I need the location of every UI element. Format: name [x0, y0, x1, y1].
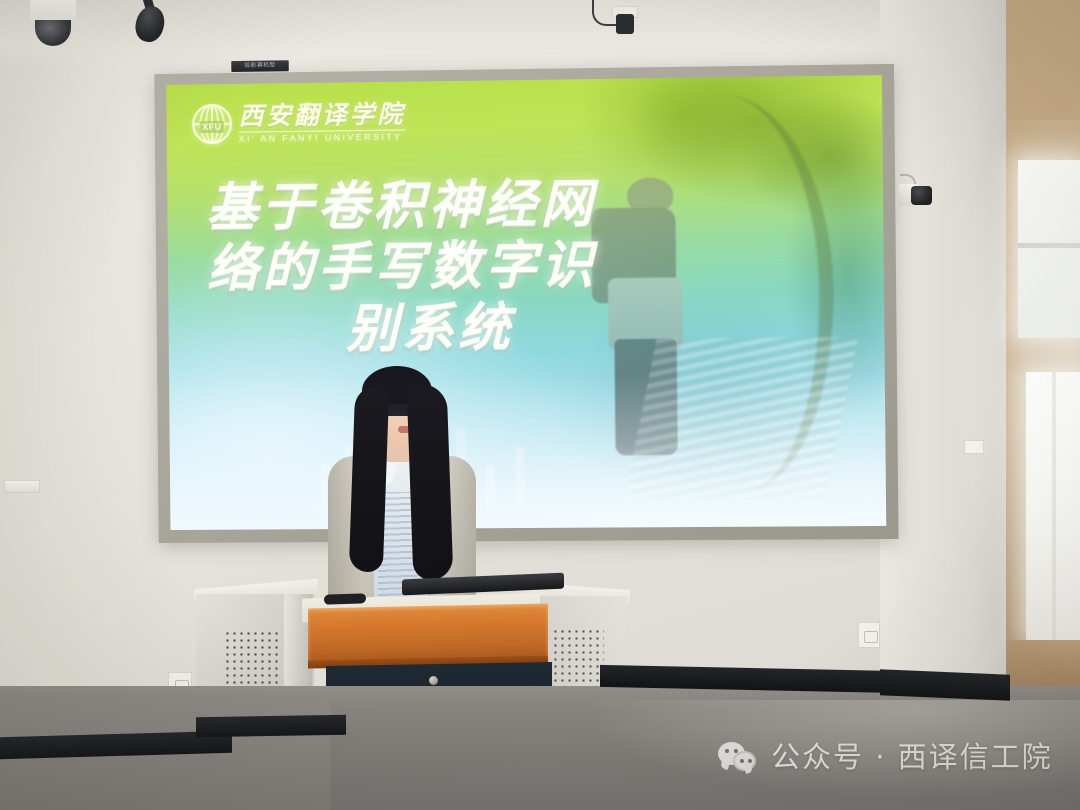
logo-text-block: 西安翻译学院 XI' AN FANYI UNIVERSITY: [238, 101, 405, 143]
skirting-board-corner: [880, 669, 1010, 700]
microphone[interactable]: [324, 593, 366, 604]
window-lower-bar: [1052, 372, 1056, 640]
ceiling-device-body: [616, 14, 634, 34]
logo-english-name: XI' AN FANYI UNIVERSITY: [239, 133, 406, 143]
speaker-head: [132, 3, 168, 45]
slide-surface: XFU 西安翻译学院 XI' AN FANYI UNIVERSITY 基于卷积神…: [166, 75, 886, 530]
right-wall-column: [880, 0, 1010, 700]
wall-camera-lens: [911, 186, 932, 205]
wechat-watermark: 公众号 · 西译信工院: [718, 742, 1053, 772]
window-mullion: [1018, 243, 1080, 248]
wall-plate-right: [964, 440, 984, 454]
wechat-bubble-small: [733, 751, 756, 771]
wechat-icon: [718, 742, 760, 772]
wall-camera-icon: [898, 178, 934, 212]
wall-vent-plate: [4, 480, 40, 493]
lecture-hall-scene: 投影幕机型: [0, 0, 1080, 810]
logo-mark-text: XFU: [199, 121, 224, 133]
ceiling-speaker-icon: [126, 0, 186, 48]
slide-title-line-2: 络的手写数字识: [207, 234, 693, 300]
hair-right-strand: [407, 383, 454, 580]
skirting-board-left-2: [196, 715, 346, 738]
window-upper-pane: [1018, 160, 1080, 338]
wall-socket-right: [858, 622, 880, 648]
screen-label-plate: 投影幕机型: [231, 60, 289, 72]
ceiling-device-icon: [612, 2, 638, 34]
dome-camera-icon: [30, 0, 76, 50]
hair-left-strand: [349, 385, 389, 572]
dome-camera-lens: [35, 20, 71, 46]
wall-left-shading: [0, 0, 150, 700]
slide-title-line-1: 基于卷积神经网: [206, 172, 692, 239]
logo-chinese-name: 西安翻译学院: [238, 101, 405, 128]
university-logo: XFU 西安翻译学院 XI' AN FANYI UNIVERSITY: [192, 101, 406, 144]
globe-icon: XFU: [192, 104, 232, 144]
projection-screen[interactable]: 投影幕机型: [154, 64, 898, 543]
screen-label-text: 投影幕机型: [231, 61, 289, 71]
slide-title: 基于卷积神经网 络的手写数字识 别系统: [206, 172, 693, 361]
podium-lock-knob[interactable]: [429, 676, 438, 685]
watermark-text: 公众号 · 西译信工院: [771, 743, 1053, 772]
